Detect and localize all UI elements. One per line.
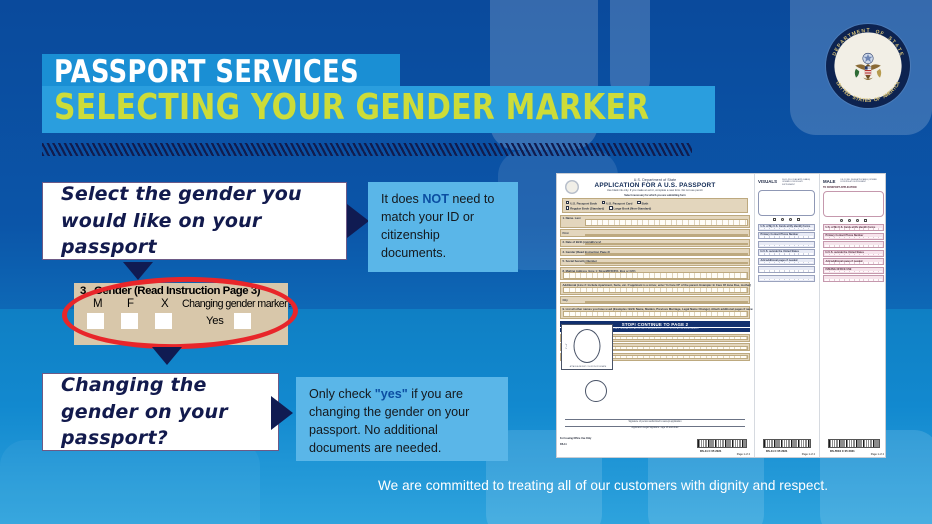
page-title-line2: SELECTING YOUR GENDER MARKER <box>54 89 649 127</box>
gender-option-label-m: M <box>93 298 102 310</box>
form-right-field[interactable]: In U.S. outside the United States <box>823 250 884 257</box>
form-signature-line: Signature of person authorized to accept… <box>565 419 745 423</box>
arrow-right-icon <box>271 396 293 430</box>
form-mid-subtitle: DS-11 (FILL IN AS APPLICABLE) OPENED FOR… <box>779 174 818 188</box>
form-mid-barcode <box>763 439 811 448</box>
gender-checkbox-x[interactable] <box>155 313 172 329</box>
info-emphasis: "yes" <box>375 387 408 401</box>
form-field-caption: City <box>563 298 568 302</box>
form-mid-checkbox[interactable] <box>773 218 776 221</box>
form-checkbox-regular-book[interactable] <box>566 206 569 209</box>
form-barcode-number: DS-11 C 05 2021 <box>700 449 721 453</box>
form-mid-panel: VISUALS DS-11 (FILL IN AS APPLICABLE) OP… <box>754 174 818 457</box>
form-right-supplement-label: TO PASSPORT APPLICATION <box>820 186 886 189</box>
info-emphasis: NOT <box>422 192 449 206</box>
passport-application-form-image: U.S. Department of State APPLICATION FOR… <box>556 173 886 458</box>
form-signature-area: Signature of person authorized to accept… <box>561 416 749 429</box>
form-checkbox-label: Large Book (Non-Standard) <box>613 207 651 211</box>
form-checkbox-passport-book[interactable] <box>566 201 569 204</box>
form-field-caption: First <box>563 231 569 235</box>
form-field[interactable]: 5. Social Security Number <box>560 258 750 266</box>
form-mid-field[interactable]: U.S. of My U.S. Cards at My identify for… <box>758 224 815 231</box>
arrow-down-icon <box>123 262 153 280</box>
form-field[interactable]: City <box>560 296 750 304</box>
form-seal-icon <box>565 180 579 194</box>
hatch-divider <box>42 143 692 156</box>
form-mid-field[interactable]: Primary Contact Phone Number <box>758 232 815 239</box>
title-band-secondary: SELECTING YOUR GENDER MARKER <box>42 86 715 133</box>
form-field-caption: 1. Name. Last <box>563 216 581 220</box>
form-mid-field[interactable]: Add additional pages if needed <box>758 258 815 265</box>
decorative-shape <box>0 440 260 524</box>
form-doc-type-group: U.S. Passport Book U.S. Passport Card Bo… <box>562 198 748 213</box>
form-mid-field[interactable] <box>758 241 815 248</box>
changing-gender-marker-yes-label: Yes <box>206 315 224 327</box>
info-box-not-match-documents: It does NOT need to match your ID or cit… <box>368 182 518 272</box>
form-mid-page-number: Page 1 of 4 <box>802 453 815 456</box>
form-signature-line: Applicant's Legal Signature - age 16 and… <box>565 426 745 430</box>
form-checkbox-label: U.S. Passport Book <box>570 201 597 205</box>
form-right-bigbox[interactable] <box>823 191 884 217</box>
form-field[interactable]: First <box>560 229 750 237</box>
form-right-field[interactable]: Primary Contact Phone Number <box>823 233 884 240</box>
form-right-field[interactable]: ISSUING OFFICE USE <box>823 267 884 274</box>
form-mid-checkbox[interactable] <box>797 218 800 221</box>
form-right-title: MALE <box>820 174 837 185</box>
decorative-shape <box>610 0 650 100</box>
form-field[interactable]: 1. Name. Last <box>560 215 750 228</box>
form-right-checkbox[interactable] <box>864 219 867 222</box>
form-mid-field[interactable]: In U.S. outside the United States <box>758 249 815 256</box>
info-box-not-match-text: It does NOT need to match your ID or cit… <box>381 191 506 263</box>
form-subtitle: Use black ink only. If you make an error… <box>557 189 753 192</box>
gender-option-label-f: F <box>127 298 134 310</box>
form-checkbox-label: Regular Book (Standard) <box>570 207 604 211</box>
form-field[interactable]: Additional (Line 2: Include Apartment, S… <box>560 282 750 295</box>
eagle-icon <box>847 48 889 88</box>
form-field[interactable]: 2. Date of Birth (mm/dd/yyyy) <box>560 239 750 247</box>
gender-options-row: M F X Changing gender marker? Yes <box>74 297 288 339</box>
changing-gender-marker-label: Changing gender marker? <box>182 298 292 310</box>
form-mid-radio[interactable] <box>789 218 792 221</box>
callout-changing-gender-text: Changing the gender on your passport? <box>43 372 278 453</box>
changing-gender-marker-checkbox[interactable] <box>234 313 251 329</box>
form-right-radio-group[interactable] <box>820 219 886 223</box>
form-right-radio[interactable] <box>848 219 851 222</box>
form-right-field[interactable] <box>823 241 884 248</box>
form-stamp-circle <box>585 380 607 402</box>
question-instruction: (Read Instruction Page 3) <box>134 285 260 297</box>
gender-checkbox-f[interactable] <box>121 313 138 329</box>
form-title: APPLICATION FOR A U.S. PASSPORT <box>557 182 753 189</box>
form-right-page-number: Page 1 of 4 <box>871 453 884 456</box>
info-box-only-check-yes-text: Only check "yes" if you are changing the… <box>309 386 496 458</box>
form-field-gender[interactable]: 3. Gender (Read Instruction Page 3) <box>560 248 750 256</box>
form-header: U.S. Department of State APPLICATION FOR… <box>557 174 753 192</box>
form-right-barcode-number: DS-5504 C 05 2021 <box>830 449 855 453</box>
gender-question-title: 3. Gender (Read Instruction Page 3) <box>74 283 288 297</box>
form-mid-bigbox[interactable] <box>758 190 815 216</box>
info-box-only-check-yes: Only check "yes" if you are changing the… <box>296 377 508 461</box>
form-main-panel: U.S. Department of State APPLICATION FOR… <box>557 174 753 457</box>
form-photo-size: 2" x 2" <box>566 343 568 349</box>
form-right-radio[interactable] <box>856 219 859 222</box>
us-department-of-state-seal-icon: DEPARTMENT OF STATEUNITED STATES OF AMER… <box>826 24 910 108</box>
form-barcode <box>697 439 747 448</box>
form-photo-placeholder: 2" x 2" ATTACH A RECENT COLOR PHOTOGRAPH <box>561 324 613 370</box>
form-id-label: DS-11 <box>560 443 567 446</box>
form-office-label: For Issuing Office Use Only <box>560 437 591 440</box>
page-title-line1: PASSPORT SERVICES <box>54 56 359 89</box>
callout-gender-selection-text: Select the gender you would like on your… <box>43 181 346 262</box>
form-mid-radio[interactable] <box>781 218 784 221</box>
form-mid-field[interactable] <box>758 275 815 282</box>
gender-checkbox-m[interactable] <box>87 313 104 329</box>
form-checkbox-both[interactable] <box>637 201 640 204</box>
form-right-field[interactable]: Add additional pages if needed <box>823 258 884 265</box>
form-mid-radio-group[interactable] <box>755 218 818 222</box>
info-prefix: It does <box>381 192 422 206</box>
info-prefix: Only check <box>309 387 375 401</box>
arrow-right-icon <box>347 204 369 238</box>
form-photo-caption: ATTACH A RECENT COLOR PHOTOGRAPH <box>568 366 608 368</box>
form-right-field[interactable]: U.S. of My U.S. Cards at My identify for… <box>823 224 884 231</box>
arrow-down-icon <box>152 347 182 365</box>
footer-commitment-text: We are committed to treating all of our … <box>378 478 828 493</box>
form-right-panel: MALE DS-11 (FILL IN AS APPLICABLE) OPENE… <box>819 174 886 457</box>
callout-changing-gender-box: Changing the gender on your passport? <box>42 373 279 451</box>
form-right-radio[interactable] <box>840 219 843 222</box>
form-right-subtitle: DS-11 (FILL IN AS APPLICABLE) OPENED FOR… <box>837 174 886 186</box>
form-field[interactable]: 8. Mailing Address (Line 1: Street/RFD/P… <box>560 267 750 280</box>
form-checkbox-passport-card[interactable] <box>602 201 605 204</box>
form-mid-title: VISUALS <box>755 174 779 185</box>
form-checkbox-intro: Select necessary for which you are submi… <box>557 194 753 197</box>
form-mid-barcode-number: DS-11 C 05 2021 <box>766 449 787 453</box>
form-mid-field[interactable] <box>758 266 815 273</box>
infographic-canvas: PASSPORT SERVICES SELECTING YOUR GENDER … <box>0 0 932 524</box>
question-number: 3. <box>80 285 89 297</box>
form-page-number: Page 1 of 4 <box>737 453 750 456</box>
form-field[interactable]: 9. List all other names you have used (E… <box>560 306 750 319</box>
form-checkbox-label: Both <box>642 201 649 205</box>
form-photo-oval <box>574 329 601 363</box>
gender-option-label-x: X <box>161 298 168 310</box>
form-right-barcode <box>828 439 880 448</box>
form-checkbox-label: U.S. Passport Card <box>606 201 632 205</box>
form-right-field[interactable] <box>823 275 884 282</box>
question-label: Gender <box>94 285 131 297</box>
gender-question-excerpt: 3. Gender (Read Instruction Page 3) M F … <box>74 283 288 345</box>
callout-gender-selection-box: Select the gender you would like on your… <box>42 182 347 260</box>
